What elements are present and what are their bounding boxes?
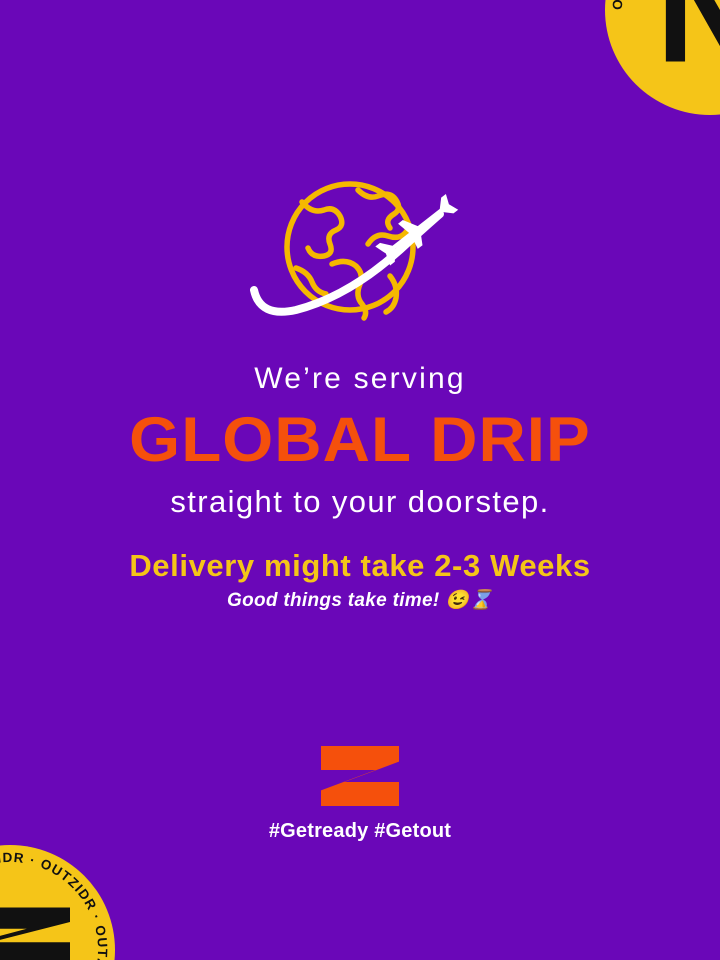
badge-core-bottom-left: OUTZIDR <box>0 908 74 960</box>
footer-block: #Getready #Getout <box>0 746 720 843</box>
headline-eyebrow: We’re serving <box>0 362 720 395</box>
footer-hashtags: #Getready #Getout <box>269 820 451 843</box>
badge-letter: N <box>656 0 720 69</box>
z-monogram-icon <box>0 908 70 960</box>
headline-subtitle: straight to your doorstep. <box>0 485 720 519</box>
headline-title: GLOBAL DRIP <box>0 407 720 473</box>
brand-badge-top-right: OUTZIDR · OUTZIDR · OUTZIDR · OUTZIDR · … <box>605 0 720 115</box>
hero-illustration <box>0 172 720 342</box>
delivery-notice: Delivery might take 2-3 Weeks <box>0 548 720 584</box>
z-monogram-icon <box>321 746 399 806</box>
badge-core-top-right: N <box>646 0 720 69</box>
headline-block: We’re serving GLOBAL DRIP straight to yo… <box>0 362 720 519</box>
globe-airplane-icon <box>240 172 480 342</box>
promo-poster: OUTZIDR · OUTZIDR · OUTZIDR · OUTZIDR · … <box>0 0 720 960</box>
delivery-reassurance: Good things take time! 😉⌛ <box>0 588 720 612</box>
brand-badge-bottom-left: OUTZIDR · OUTZIDR · OUTZIDR · OUTZIDR · … <box>0 845 115 960</box>
